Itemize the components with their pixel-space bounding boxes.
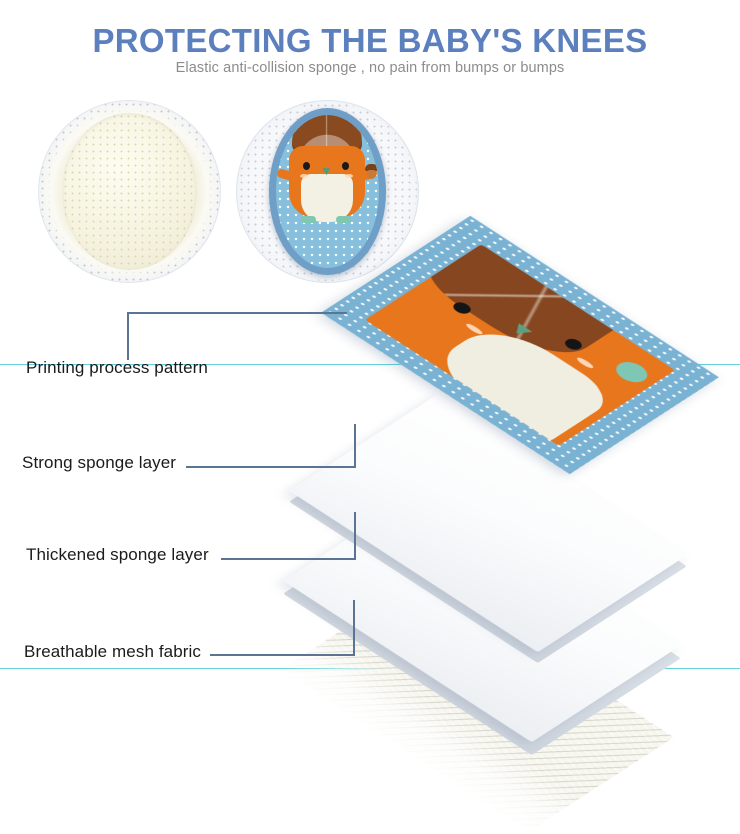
acorn-belly [426, 319, 618, 444]
product-photo-plain-pad [38, 100, 221, 283]
pad-printed-fabric [276, 115, 379, 268]
label-strong-sponge-layer: Strong sponge layer [22, 453, 176, 473]
leader-line-printing [127, 312, 347, 314]
leader-line-thickened-sponge [354, 512, 356, 560]
acorn-belly [301, 174, 353, 222]
leader-line-thickened-sponge [221, 558, 356, 560]
acorn-foot-right [336, 216, 351, 223]
page-subtitle: Elastic anti-collision sponge , no pain … [0, 60, 740, 76]
infographic-canvas: PROTECTING THE BABY'S KNEES Elastic anti… [0, 0, 740, 738]
printed-acorn-artwork [365, 244, 675, 446]
product-photo-printed-pad [236, 100, 419, 283]
label-printing-process-pattern: Printing process pattern [26, 358, 208, 378]
acorn-blush-left [300, 174, 308, 178]
leader-line-strong-sponge [186, 466, 356, 468]
leader-line-strong-sponge [354, 424, 356, 468]
acorn-cap-icon [411, 244, 622, 367]
acorn-foot-left [301, 216, 316, 223]
acorn-blush-right [345, 174, 353, 178]
acorn-eye-left [303, 162, 310, 170]
sponge-slab-face [283, 484, 681, 742]
held-acorn-icon [610, 358, 654, 386]
label-breathable-mesh-fabric: Breathable mesh fabric [24, 642, 201, 662]
acorn-nose-icon [510, 323, 533, 338]
acorn-eye-left [450, 300, 474, 316]
leader-line-breathable-mesh [353, 600, 355, 656]
pad-printed-oval-border [269, 108, 386, 275]
held-acorn-icon [365, 164, 378, 179]
divider-rule-bottom [0, 668, 740, 669]
sponge-thickness-edge [283, 497, 681, 755]
acorn-eye-right [342, 162, 349, 170]
acorn-eye-right [562, 336, 586, 352]
pad-sponge-core [62, 113, 197, 270]
page-title: PROTECTING THE BABY'S KNEES [0, 22, 740, 60]
leader-line-breathable-mesh [210, 654, 355, 656]
sponge-slab-face [289, 394, 687, 652]
acorn-blush-left [465, 323, 485, 336]
label-thickened-sponge-layer: Thickened sponge layer [26, 545, 209, 565]
sponge-thickness-edge [289, 405, 687, 663]
acorn-cap-texture [411, 244, 622, 367]
leader-line-printing [127, 312, 129, 360]
acorn-character [281, 115, 373, 226]
mesh-fabric-slab [276, 576, 674, 834]
